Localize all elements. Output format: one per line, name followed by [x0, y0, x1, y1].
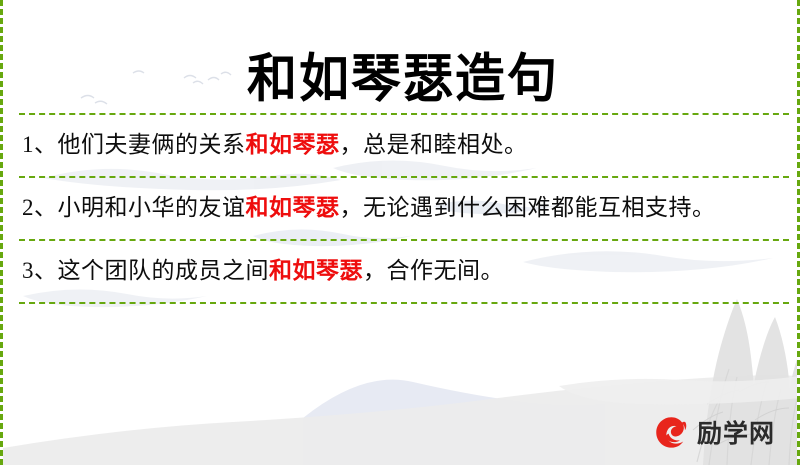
sentence-text-after-1: ，总是和睦相处。 — [340, 132, 528, 158]
site-logo-watermark: 励学网 — [654, 415, 775, 451]
idiom-keyword-1: 和如琴瑟 — [246, 131, 340, 158]
sentence-text-after-2: ，无论遇到什么困难都能互相支持。 — [340, 195, 716, 221]
sentence-item-2: 2、小明和小华的友谊和如琴瑟，无论遇到什么困难都能互相支持。 — [3, 178, 800, 239]
sentence-item-1: 1、他们夫妻俩的关系和如琴瑟，总是和睦相处。 — [3, 115, 800, 176]
idiom-keyword-2: 和如琴瑟 — [246, 194, 340, 221]
sentence-text-before-2: 小明和小华的友谊 — [58, 195, 246, 221]
sentence-number-3: 3、 — [22, 258, 58, 283]
swirl-flame-icon — [654, 415, 690, 451]
idiom-keyword-3: 和如琴瑟 — [269, 257, 363, 284]
page-title: 和如琴瑟造句 — [247, 46, 559, 111]
sentence-number-1: 1、 — [22, 132, 58, 157]
sentence-text-before-1: 他们夫妻俩的关系 — [58, 132, 246, 158]
site-logo-text: 励学网 — [697, 421, 775, 446]
sentence-text-after-3: ，合作无间。 — [363, 258, 504, 284]
sentence-item-3: 3、这个团队的成员之间和如琴瑟，合作无间。 — [3, 241, 800, 302]
sentence-list: 1、他们夫妻俩的关系和如琴瑟，总是和睦相处。 2、小明和小华的友谊和如琴瑟，无论… — [3, 113, 800, 304]
document-page: 和如琴瑟造句 1、他们夫妻俩的关系和如琴瑟，总是和睦相处。 2、小明和小华的友谊… — [0, 0, 800, 465]
sentence-number-2: 2、 — [22, 195, 58, 220]
divider-bottom — [19, 302, 789, 304]
sentence-text-before-3: 这个团队的成员之间 — [58, 258, 270, 284]
